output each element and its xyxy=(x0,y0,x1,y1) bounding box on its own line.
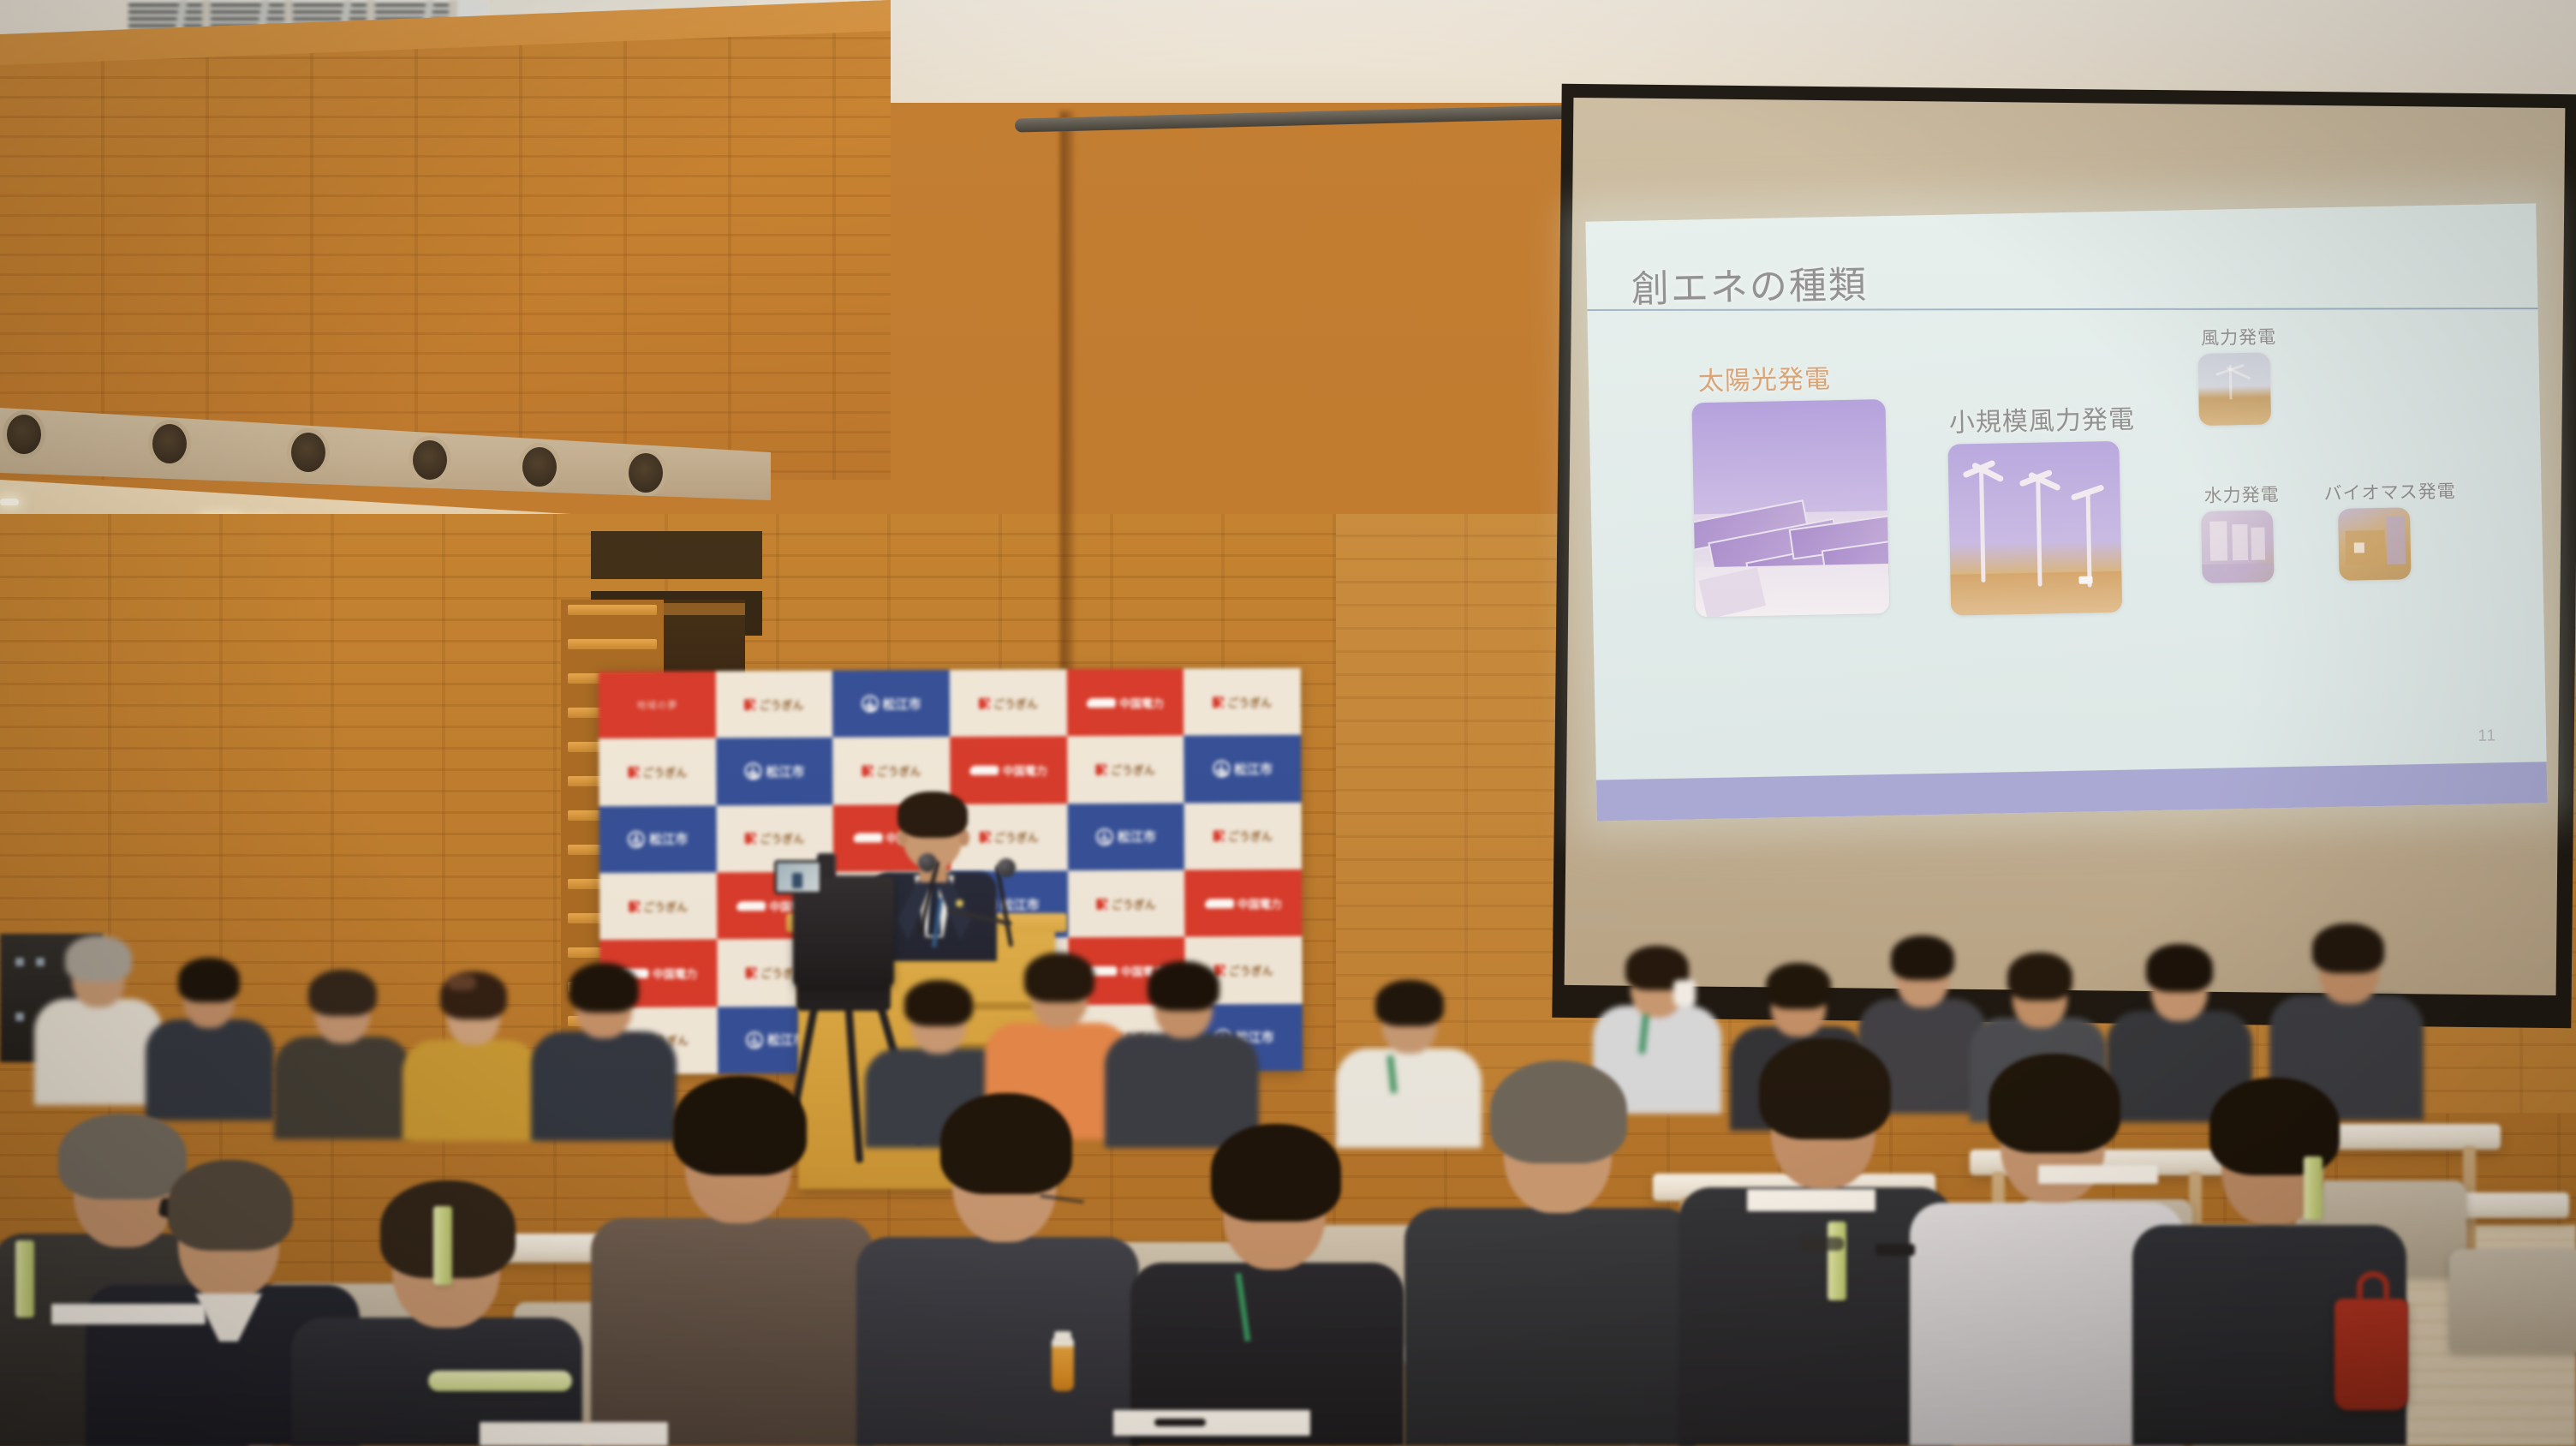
matsue-city-logo: 松江市 xyxy=(862,695,921,713)
matsue-city-logo: 松江市 xyxy=(1096,828,1156,845)
matsue-mark-icon xyxy=(744,763,761,780)
eyeglasses xyxy=(1798,1237,1845,1251)
gogin-mark-icon xyxy=(746,967,757,978)
wind-turbine-thumbnail xyxy=(2197,352,2271,426)
document-tube xyxy=(433,1206,452,1285)
hydro-plant-thumbnail xyxy=(2201,510,2275,583)
gogin-logo: ごうぎん xyxy=(979,695,1038,711)
banner-cell: 松江市 xyxy=(1184,735,1302,803)
chugoku-electric-logo: 中国電力 xyxy=(1087,694,1164,710)
audience-member-foreground xyxy=(856,1078,1139,1446)
bag-handle xyxy=(2357,1271,2389,1300)
document-tube xyxy=(15,1240,34,1318)
audience-member-yellow-coat xyxy=(402,970,540,1141)
papers xyxy=(51,1304,206,1324)
banner-cell: ごうぎん xyxy=(1184,668,1301,736)
gogin-logo: ごうぎん xyxy=(628,764,687,780)
papers xyxy=(2038,1165,2158,1184)
matsue-mark-icon xyxy=(862,696,879,713)
slide-title: 創エネの種類 xyxy=(1631,254,1868,313)
document-tube xyxy=(1828,1222,1846,1300)
chugoku-electric-logo: 中国電力 xyxy=(1205,895,1282,911)
matsue-mark-icon xyxy=(628,831,645,848)
gogin-mark-icon xyxy=(1213,831,1225,842)
gogin-logo: ごうぎん xyxy=(1096,762,1155,778)
gogin-mark-icon xyxy=(1096,764,1107,775)
audience-member-foreground xyxy=(1404,1045,1696,1446)
matsue-city-logo: 松江市 xyxy=(744,762,804,780)
gogin-logo: ごうぎん xyxy=(1213,694,1272,710)
red-bag xyxy=(2334,1299,2408,1410)
gogin-mark-icon xyxy=(1097,899,1108,910)
solar-panel-photo xyxy=(1691,399,1889,617)
conference-hall-photo: 創エネの種類 太陽光発電 小規模風力発電 xyxy=(0,0,2576,1446)
chair xyxy=(2449,1249,2576,1352)
papers xyxy=(1747,1189,1875,1211)
banner-cell: ごうぎん xyxy=(1068,870,1185,938)
slide-label-small-wind: 小規模風力発電 xyxy=(1948,397,2135,439)
tea-bottle xyxy=(1052,1338,1074,1391)
gogin-logo: ごうぎん xyxy=(862,762,921,779)
matsue-mark-icon xyxy=(1096,828,1113,845)
banner-cell: 松江市 xyxy=(832,670,950,738)
audience-member xyxy=(146,956,274,1119)
banner-cell: ごうぎん xyxy=(599,872,717,940)
chugoku-mark-icon xyxy=(736,901,766,911)
banner-cell: ごうぎん xyxy=(1067,736,1184,804)
papers xyxy=(480,1422,668,1446)
video-camera xyxy=(793,875,894,987)
banner-cell: ごうぎん xyxy=(715,671,832,738)
matsue-mark-icon xyxy=(746,1031,763,1049)
matsue-mark-icon xyxy=(1213,761,1230,778)
gogin-logo: ごうぎん xyxy=(744,696,803,713)
wall-recess-upper xyxy=(591,531,762,579)
matsue-city-logo: 松江市 xyxy=(1213,760,1273,778)
chugoku-mark-icon xyxy=(969,766,1000,775)
audience-member-foreground xyxy=(1130,1105,1404,1446)
slide-label-biomass: バイオマス発電 xyxy=(2323,477,2456,505)
banner-cell: 松江市 xyxy=(1067,803,1184,870)
gogin-mark-icon xyxy=(744,699,755,710)
audience-member xyxy=(274,968,411,1139)
ceiling-track-rail xyxy=(1015,104,1614,132)
biomass-plant-thumbnail xyxy=(2338,507,2412,581)
banner-cell: ごうぎん xyxy=(1184,803,1302,870)
gogin-logo: ごうぎん xyxy=(745,830,804,846)
papers xyxy=(1113,1410,1310,1436)
gogin-mark-icon xyxy=(862,765,874,776)
banner-cell: 中国電力 xyxy=(1184,869,1302,937)
gogin-logo: ごうぎん xyxy=(1097,895,1156,911)
matsue-city-logo: 松江市 xyxy=(628,830,688,848)
banner-cell: ごうぎん xyxy=(599,738,716,806)
chugoku-mark-icon xyxy=(1204,899,1235,908)
microphone-head-left xyxy=(918,853,937,872)
small-wind-turbine-photo xyxy=(1947,441,2122,616)
slide-label-solar: 太陽光発電 xyxy=(1698,357,1832,397)
wood-wall-upper-left xyxy=(0,0,891,480)
gogin-logo: ごうぎん xyxy=(629,898,688,914)
gogin-mark-icon xyxy=(745,834,756,845)
document-tube xyxy=(428,1371,572,1391)
banner-slogan: 地域の夢 xyxy=(636,698,677,712)
document-tube xyxy=(2304,1156,2323,1220)
gogin-mark-icon xyxy=(628,767,639,778)
bottle-cap xyxy=(1054,1331,1071,1342)
microphone-head-right xyxy=(997,858,1016,877)
banner-cell: 松江市 xyxy=(599,805,717,873)
chugoku-mark-icon xyxy=(1086,698,1117,708)
audience-member xyxy=(34,934,163,1105)
camera-lcd-monitor xyxy=(774,860,822,894)
banner-cell: ごうぎん xyxy=(950,669,1067,737)
slide-label-hydro: 水力発電 xyxy=(2203,481,2280,508)
banner-cell: 松江市 xyxy=(716,738,833,805)
chugoku-electric-logo: 中国電力 xyxy=(970,762,1047,778)
slide-label-wind: 風力発電 xyxy=(2201,323,2277,350)
gogin-mark-icon xyxy=(979,697,990,708)
banner-cell: 中国電力 xyxy=(1066,669,1184,737)
smartphone xyxy=(1875,1244,1915,1256)
gogin-mark-icon xyxy=(629,901,640,912)
banner-cell: 中国電力 xyxy=(950,737,1067,804)
matsue-city-logo: 松江市 xyxy=(746,1031,806,1049)
presentation-slide: 創エネの種類 太陽光発電 小規模風力発電 xyxy=(1585,203,2547,821)
audience-member-foreground xyxy=(591,1062,874,1446)
slide-page-number: 11 xyxy=(2478,726,2496,745)
gogin-logo: ごうぎん xyxy=(1213,828,1273,844)
gogin-mark-icon xyxy=(1213,696,1224,708)
pen xyxy=(1154,1419,1206,1426)
banner-cell: 地域の夢 xyxy=(599,671,716,738)
